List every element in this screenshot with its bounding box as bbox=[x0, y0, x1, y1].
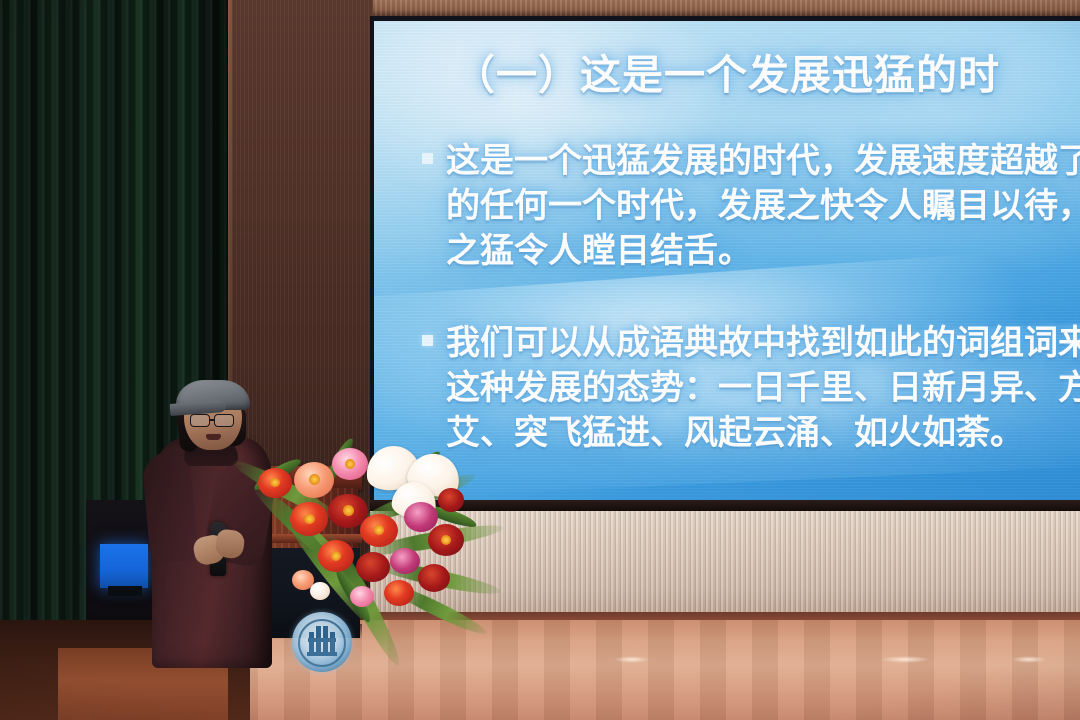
floor-reflection bbox=[880, 656, 930, 663]
floral-arrangement bbox=[232, 440, 482, 655]
glasses-icon bbox=[190, 414, 210, 427]
projection-screen: （一）这是一个发展迅猛的时 这是一个迅猛发展的时代，发展速度超越了以往的任何一个… bbox=[374, 21, 1080, 501]
flower-center bbox=[331, 551, 341, 561]
gerbera-flower bbox=[356, 552, 390, 582]
gerbera-flower bbox=[438, 488, 464, 512]
presenter-left-shoulder bbox=[141, 450, 198, 564]
flower-center bbox=[343, 505, 354, 516]
square-bullet-icon bbox=[422, 153, 433, 164]
orchid-flower bbox=[310, 582, 330, 600]
floor-reflection bbox=[614, 656, 650, 663]
slide-bullet-2-text: 我们可以从成语典故中找到如此的词组词来描绘这种发展的态势：一日千里、日新月异、方… bbox=[446, 321, 1080, 456]
slide-bullet-1-text: 这是一个迅猛发展的时代，发展速度超越了以往的任何一个时代，发展之快令人瞩目以待，… bbox=[446, 139, 1080, 274]
flower-center bbox=[309, 474, 320, 485]
presenter-mouth bbox=[206, 434, 221, 440]
gerbera-flower bbox=[418, 564, 450, 592]
flower-center bbox=[304, 514, 315, 524]
floor-reflection bbox=[1012, 656, 1046, 663]
square-bullet-icon bbox=[422, 335, 433, 346]
orchid-flower bbox=[390, 548, 420, 574]
slide-bullet-2: 我们可以从成语典故中找到如此的词组词来描绘这种发展的态势：一日千里、日新月异、方… bbox=[418, 321, 1080, 456]
monitor-stand bbox=[108, 586, 142, 596]
projection-screen-frame: （一）这是一个发展迅猛的时 这是一个迅猛发展的时代，发展速度超越了以往的任何一个… bbox=[370, 16, 1080, 508]
orchid-flower bbox=[350, 586, 374, 607]
flower-center bbox=[345, 459, 355, 469]
slide-title: （一）这是一个发展迅猛的时 bbox=[454, 51, 1000, 99]
glasses-bridge bbox=[210, 419, 215, 421]
flower-center bbox=[270, 478, 280, 487]
gerbera-flower bbox=[384, 580, 414, 606]
slide-bullet-1: 这是一个迅猛发展的时代，发展速度超越了以往的任何一个时代，发展之快令人瞩目以待，… bbox=[418, 139, 1080, 274]
flower-center bbox=[374, 525, 384, 535]
glasses-icon bbox=[214, 414, 234, 427]
flower-center bbox=[441, 535, 451, 545]
slide-content: （一）这是一个发展迅猛的时 这是一个迅猛发展的时代，发展速度超越了以往的任何一个… bbox=[374, 21, 1080, 501]
conference-photo-scene: （一）这是一个发展迅猛的时 这是一个迅猛发展的时代，发展速度超越了以往的任何一个… bbox=[0, 0, 1080, 720]
